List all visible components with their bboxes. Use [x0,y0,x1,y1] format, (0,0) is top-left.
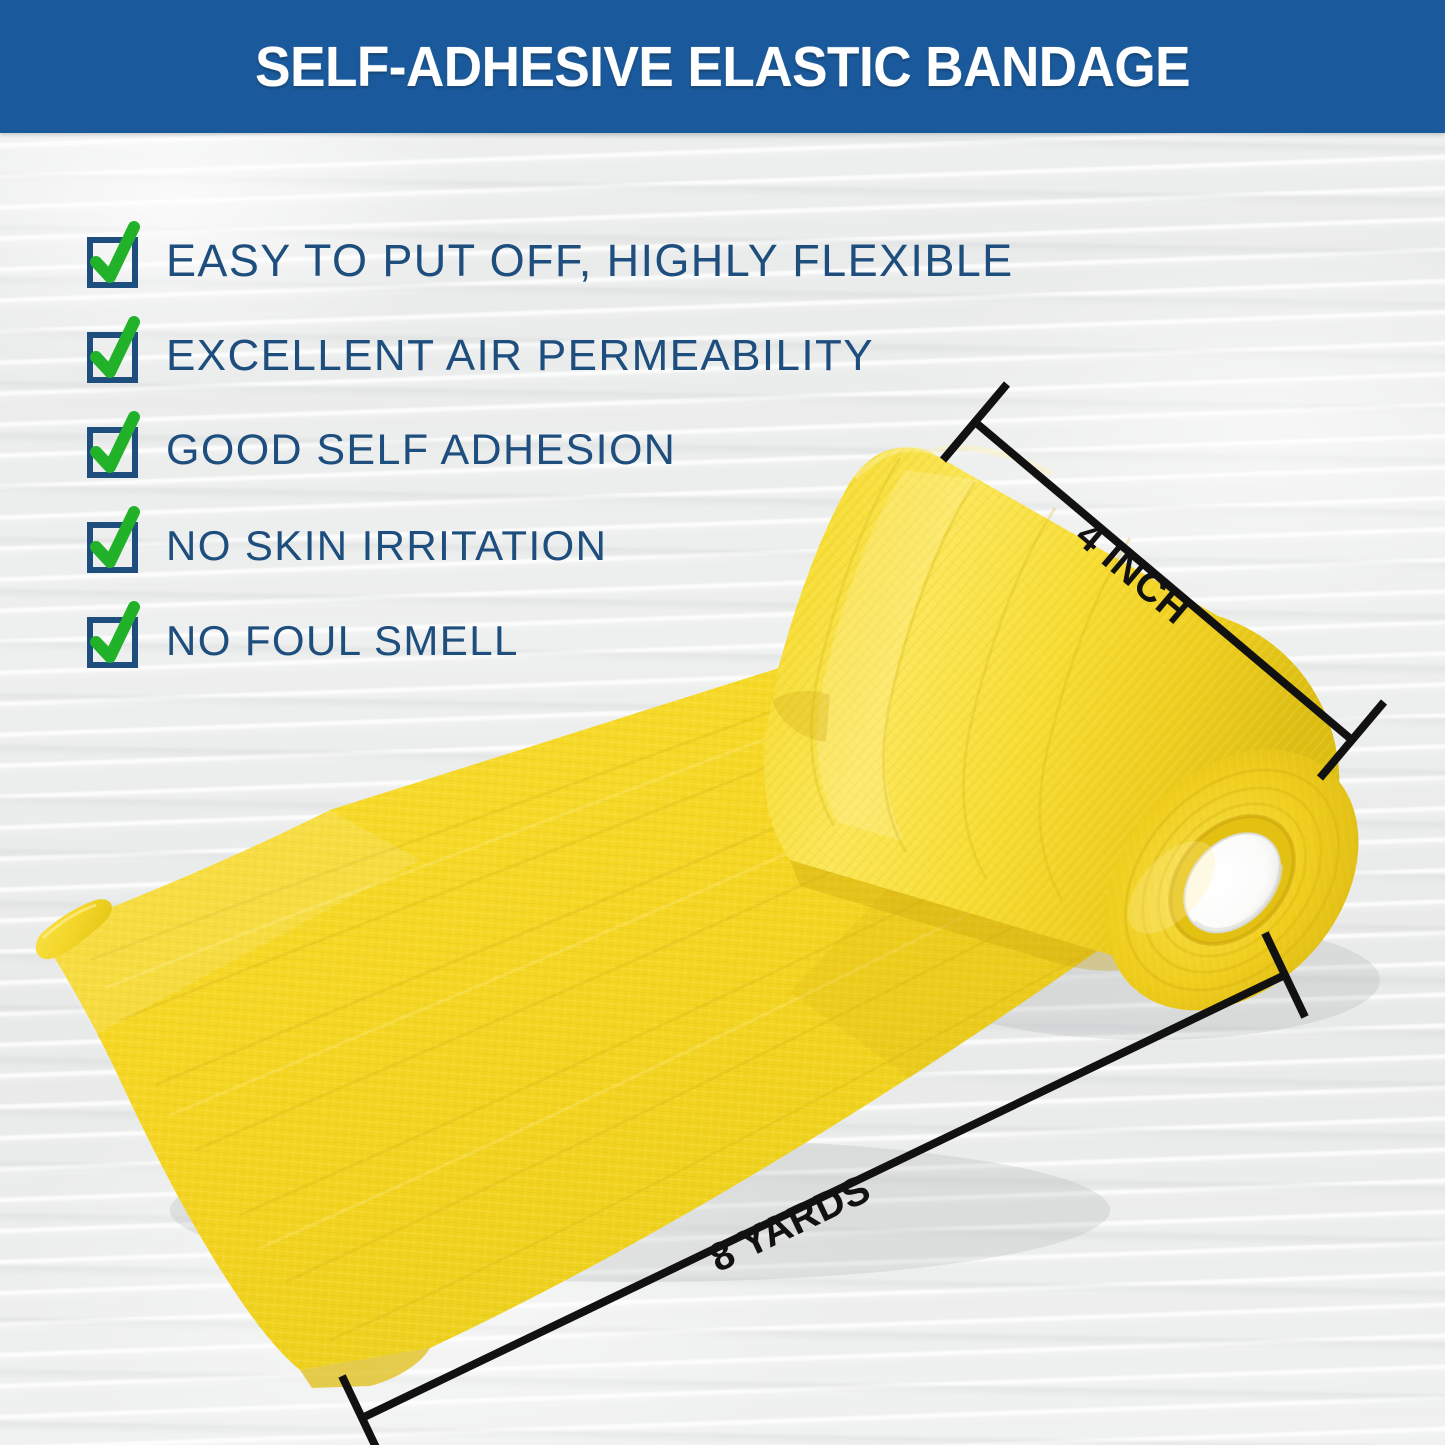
dimension-annotations: 4 INCH 8 YARDS [0,0,1445,1445]
header-banner: SELF-ADHESIVE ELASTIC BANDAGE [0,0,1445,133]
page-title: SELF-ADHESIVE ELASTIC BANDAGE [255,34,1190,100]
product-infographic: SELF-ADHESIVE ELASTIC BANDAGE EASY TO PU… [0,0,1445,1445]
